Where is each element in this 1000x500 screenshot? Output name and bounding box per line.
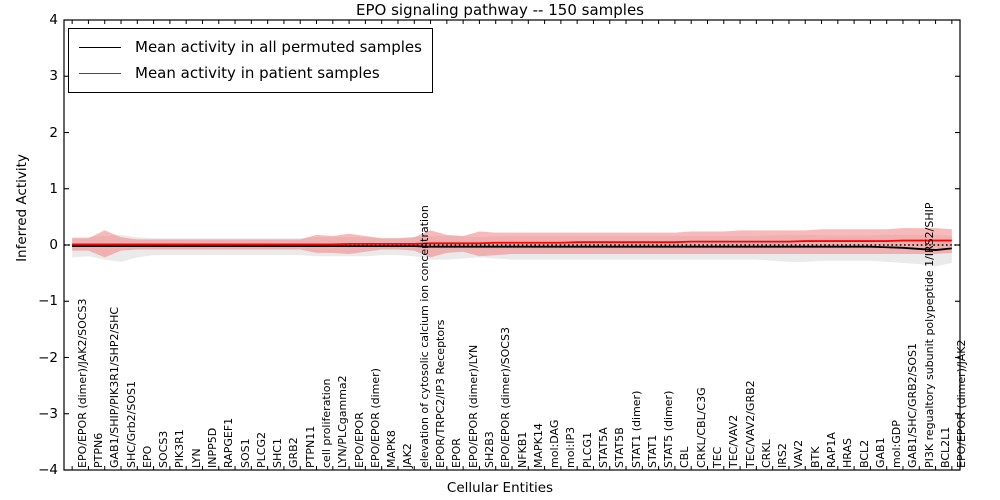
x-tick-label: CRKL: [761, 439, 772, 468]
legend-item: Mean activity in patient samples: [79, 60, 422, 86]
x-tick-label: EPO/EPOR (dimer)/LYN: [468, 345, 479, 468]
x-tick-label: EPO/EPOR (dimer): [370, 368, 381, 468]
x-tick-label: SOCS3: [158, 431, 169, 468]
x-tick-label: SHC/Grb2/SOS1: [126, 381, 137, 468]
x-tick-label: CBL: [679, 447, 690, 468]
x-tick-label: RAP1A: [826, 432, 837, 468]
x-tick-label: EPO/EPOR (dimer)/SOCS3: [500, 327, 511, 468]
x-tick-label: LYN/PLCgamma2: [337, 375, 348, 468]
x-tick-label: PI3K regualtory subunit polypeptide 1/IR…: [924, 203, 935, 469]
x-tick-label: STAT5B: [614, 427, 625, 468]
x-tick-label: CRKL/CBL/C3G: [696, 387, 707, 468]
x-tick-label: EPO: [142, 446, 153, 468]
x-tick-label: NFKB1: [517, 432, 528, 468]
x-tick-label: EPO/EPOR (dimer)/JAK2: [956, 340, 967, 468]
x-tick-label: RAPGEF1: [223, 418, 234, 468]
x-tick-label: EPOR: [451, 438, 462, 468]
x-tick-label: EPO/EPOR (dimer)/JAK2/SOCS3: [77, 299, 88, 468]
x-tick-label: SH2B3: [484, 431, 495, 468]
x-tick-label: BCL2: [859, 440, 870, 468]
x-tick-label: INPP5D: [207, 428, 218, 468]
x-tick-label: JAK2: [402, 443, 413, 468]
x-tick-label: mol:GDP: [891, 420, 902, 468]
x-tick-label: mol:IP3: [565, 427, 576, 468]
x-tick-label: SOS1: [240, 438, 251, 468]
x-tick-label: BTK: [810, 447, 821, 468]
x-tick-label: STAT5 (dimer): [663, 391, 674, 468]
x-tick-label: mol:DAG: [549, 420, 560, 468]
x-tick-label: TEC/VAV2: [728, 415, 739, 468]
x-tick-label: IRS2: [777, 443, 788, 468]
x-tick-label: PLCG1: [582, 432, 593, 468]
x-tick-label: SHC1: [272, 438, 283, 468]
x-tick-label: EPOR/TRPC2/IP3 Receptors: [435, 320, 446, 468]
x-tick-label: PIK3R1: [174, 429, 185, 468]
x-tick-label: GRB2: [288, 437, 299, 468]
x-tick-label: cell proliferation: [321, 378, 332, 468]
x-tick-label: BCL2L1: [940, 427, 951, 468]
x-tick-label: MAPK8: [386, 430, 397, 468]
x-tick-label: LYN: [191, 448, 202, 468]
x-tick-label: PLCG2: [256, 432, 267, 468]
chart-figure: EPO signaling pathway -- 150 samples Inf…: [0, 0, 1000, 500]
x-tick-label: TEC: [712, 447, 723, 468]
x-tick-label: STAT5A: [598, 427, 609, 468]
x-tick-label: GAB1/SHIP/PIK3R1/SHP2/SHC: [109, 307, 120, 468]
x-tick-label: VAV2: [793, 440, 804, 468]
x-tick-label: TEC/VAV2/GRB2: [745, 380, 756, 468]
x-tick-label: STAT1: [647, 435, 658, 468]
legend-label-patient: Mean activity in patient samples: [135, 64, 380, 82]
x-tick-label: GAB1: [875, 437, 886, 468]
legend-swatch-patient: [79, 73, 121, 74]
x-tick-label: EPO/EPOR: [354, 412, 365, 468]
x-tick-label: PTPN11: [305, 426, 316, 468]
x-tick-label: MAPK14: [533, 423, 544, 468]
legend-item: Mean activity in all permuted samples: [79, 34, 422, 60]
x-tick-label: PTPN6: [93, 433, 104, 468]
x-tick-label: STAT1 (dimer): [631, 391, 642, 468]
legend-swatch-permuted: [79, 47, 121, 48]
x-tick-label: elevation of cytosolic calcium ion conce…: [419, 205, 430, 468]
x-tick-label: HRAS: [842, 438, 853, 468]
legend-label-permuted: Mean activity in all permuted samples: [135, 38, 422, 56]
x-tick-label: GAB1/SHC/GRB2/SOS1: [907, 343, 918, 468]
chart-legend: Mean activity in all permuted samples Me…: [68, 28, 433, 93]
